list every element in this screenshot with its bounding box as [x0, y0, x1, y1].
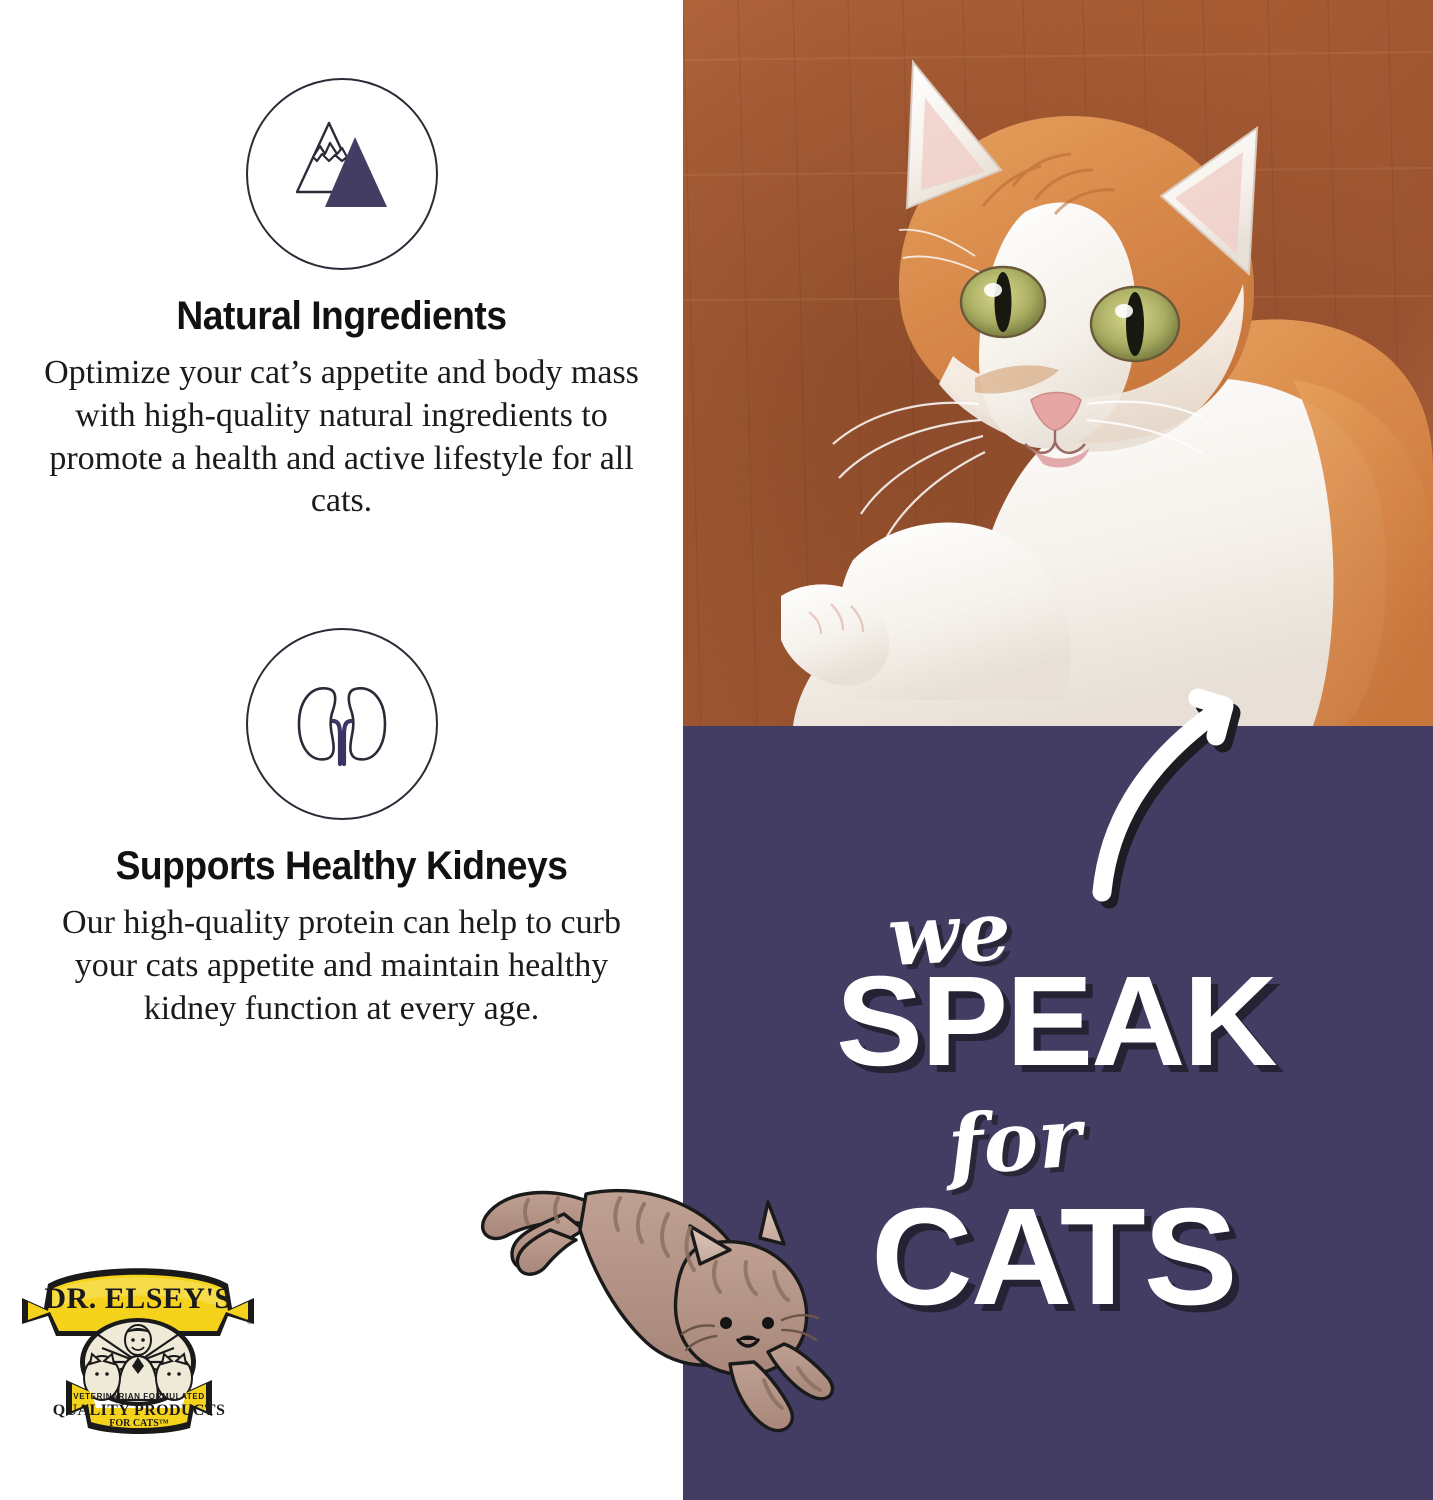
- logo-registered-mark: ®: [247, 1317, 253, 1326]
- logo-ribbon-line-3: FOR CATS™: [109, 1418, 169, 1429]
- feature-body: Optimize your cat’s appetite and body ma…: [32, 352, 652, 523]
- feature-title: Natural Ingredients: [24, 294, 659, 338]
- logo-ribbon-line-2: QUALITY PRODUCTS: [53, 1402, 226, 1419]
- feature-supports-healthy-kidneys: Supports Healthy Kidneys Our high-qualit…: [0, 628, 683, 1030]
- orange-white-cat-photo: [683, 0, 1433, 726]
- feature-title: Supports Healthy Kidneys: [24, 844, 659, 888]
- feature-natural-ingredients: Natural Ingredients Optimize your cat’s …: [0, 78, 683, 523]
- dr-elseys-logo-svg: DR. ELSEY'S ®: [14, 1258, 262, 1440]
- mountain-icon-svg: [267, 99, 417, 249]
- cat-photo-svg: [683, 0, 1433, 726]
- dr-elseys-logo: DR. ELSEY'S ®: [14, 1258, 262, 1440]
- left-features-column: Natural Ingredients Optimize your cat’s …: [0, 0, 683, 1500]
- brand-slogan-panel: [683, 726, 1433, 1500]
- logo-ribbon-line-1: VETERINARIAN FORMULATED: [73, 1392, 204, 1401]
- kidneys-icon-svg: [267, 649, 417, 799]
- mountain-icon: [246, 78, 438, 270]
- kidneys-icon: [246, 628, 438, 820]
- feature-body: Our high-quality protein can help to cur…: [32, 902, 652, 1030]
- logo-brand-text: DR. ELSEY'S: [44, 1282, 231, 1315]
